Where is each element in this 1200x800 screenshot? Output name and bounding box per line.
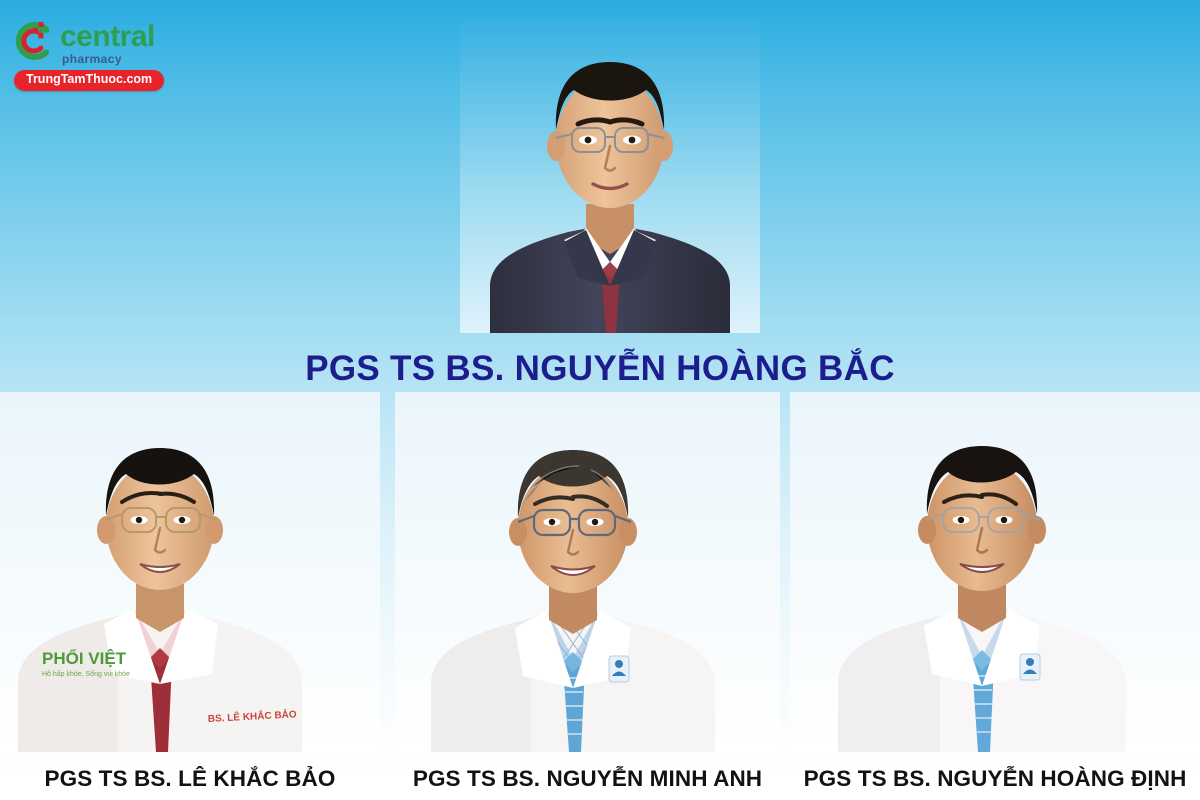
website-badge[interactable]: TrungTamThuoc.com — [14, 70, 164, 91]
svg-text:PHỔI VIỆT: PHỔI VIỆT — [42, 649, 127, 668]
doctor-card-1[interactable]: PHỔI VIỆT Hô hấp khỏe, Sống vui khỏe BS.… — [0, 392, 380, 800]
svg-text:Hô hấp khỏe, Sống vui khỏe: Hô hấp khỏe, Sống vui khỏe — [42, 669, 130, 678]
doctor-card-2[interactable]: PGS TS BS. NGUYỄN MINH ANH — [395, 392, 780, 800]
brand-tagline: pharmacy — [62, 52, 122, 66]
coat-logo-phoi-viet: PHỔI VIỆT Hô hấp khỏe, Sống vui khỏe — [42, 649, 130, 678]
doctors-row: PHỔI VIỆT Hô hấp khỏe, Sống vui khỏe BS.… — [0, 392, 1200, 800]
hero-title: PGS TS BS. NGUYỄN HOÀNG BẮC — [0, 350, 1200, 389]
brand-name: central — [60, 22, 155, 52]
coat-badge — [1020, 654, 1040, 680]
central-pharmacy-logo-icon — [10, 18, 56, 64]
poster-canvas: central pharmacy TrungTamThuoc.com — [0, 0, 1200, 800]
doctor-card-3[interactable]: PGS TS BS. NGUYỄN HOÀNG ĐỊNH — [790, 392, 1200, 800]
doctor-1-photo: PHỔI VIỆT Hô hấp khỏe, Sống vui khỏe BS.… — [0, 392, 380, 752]
doctor-3-name: PGS TS BS. NGUYỄN HOÀNG ĐỊNH — [790, 767, 1200, 792]
doctor-1-name: PGS TS BS. LÊ KHẮC BẢO — [0, 767, 380, 792]
coat-badge — [609, 656, 629, 682]
doctor-2-name: PGS TS BS. NGUYỄN MINH ANH — [395, 767, 780, 792]
doctor-2-photo — [395, 392, 780, 752]
hero-portrait-photo — [460, 18, 760, 333]
doctor-3-photo — [790, 392, 1200, 752]
brand-logo[interactable]: central pharmacy TrungTamThuoc.com — [8, 16, 168, 88]
